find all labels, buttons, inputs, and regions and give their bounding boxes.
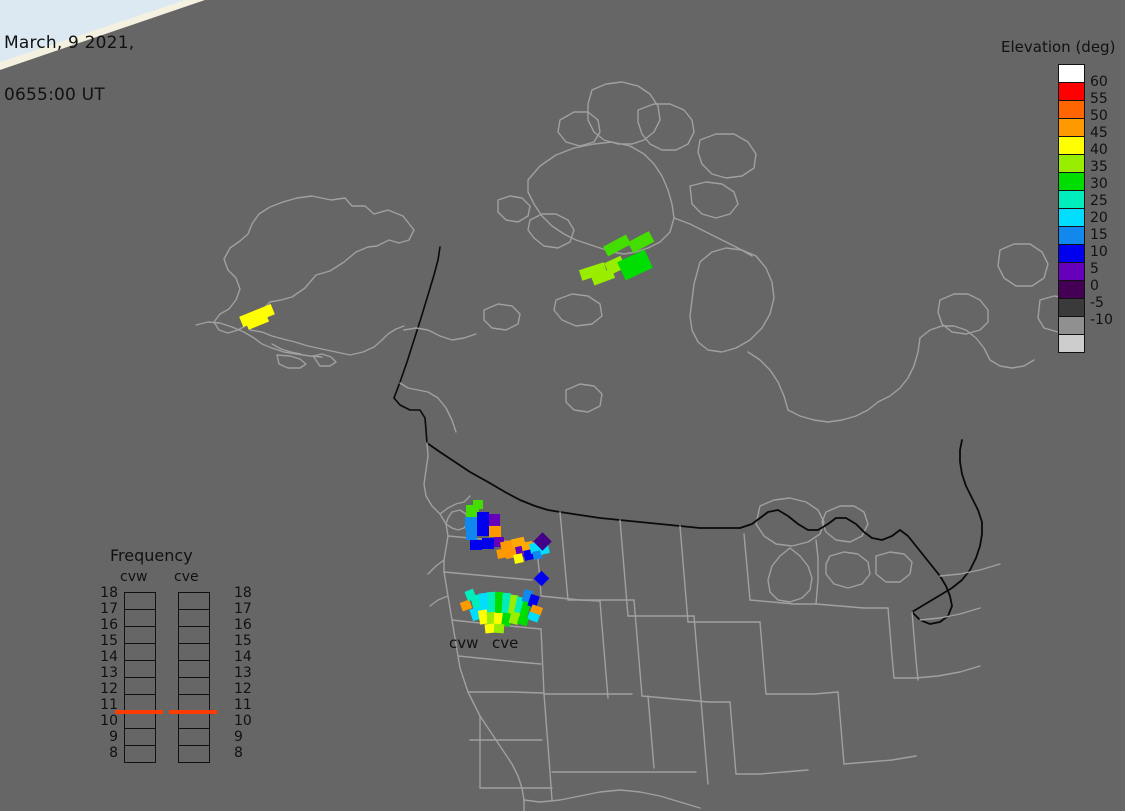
frequency-tick <box>179 644 209 661</box>
elevation-label: 45 <box>1090 126 1108 140</box>
elevation-label: 20 <box>1090 211 1108 225</box>
radar-cell <box>494 624 505 634</box>
radar-cell <box>489 526 501 537</box>
frequency-tick-label: 9 <box>234 730 254 744</box>
elevation-label: 60 <box>1090 75 1108 89</box>
frequency-tick <box>125 627 155 644</box>
frequency-tick <box>179 712 209 729</box>
frequency-tick <box>125 712 155 729</box>
elevation-swatch <box>1059 262 1084 280</box>
frequency-tick <box>179 627 209 644</box>
elevation-colorbar-wrap: 605550454035302520151050-5-10 <box>1058 64 1125 353</box>
radar-cell <box>465 517 477 529</box>
frequency-tick-label: 11 <box>98 698 118 712</box>
radar-cell <box>513 553 524 564</box>
frequency-tick <box>125 593 155 610</box>
frequency-tick-label: 12 <box>234 682 254 696</box>
frequency-tick <box>179 746 209 762</box>
elevation-label: 40 <box>1090 143 1108 157</box>
radar-cell <box>473 500 483 509</box>
frequency-column-title-cve: cve <box>174 570 199 584</box>
frequency-tick <box>179 593 209 610</box>
elevation-swatch <box>1059 172 1084 190</box>
frequency-tick-label: 17 <box>234 602 254 616</box>
radar-cell <box>477 512 489 525</box>
elevation-swatch <box>1059 136 1084 154</box>
radar-cell <box>628 231 655 253</box>
frequency-tick <box>179 678 209 695</box>
elevation-label: -10 <box>1090 313 1113 327</box>
radar-map-visualization: March, 9 2021, 0655:00 UT <box>0 0 1125 811</box>
frequency-tick-label: 14 <box>234 650 254 664</box>
elevation-swatch <box>1059 82 1084 100</box>
frequency-tick-label: 10 <box>234 714 254 728</box>
elevation-label: -5 <box>1090 296 1104 310</box>
frequency-tick <box>125 746 155 762</box>
frequency-tick <box>125 729 155 746</box>
elevation-swatch <box>1059 65 1084 82</box>
frequency-tick <box>179 610 209 627</box>
elevation-label: 15 <box>1090 228 1108 242</box>
elevation-swatch <box>1059 118 1084 136</box>
frequency-tick <box>125 678 155 695</box>
frequency-tick-label: 18 <box>98 586 118 600</box>
radar-data-cells <box>0 0 1125 811</box>
frequency-tick-label: 9 <box>98 730 118 744</box>
elevation-label: 0 <box>1090 279 1099 293</box>
elevation-swatch <box>1059 280 1084 298</box>
station-label-cvw: cvw <box>449 636 478 651</box>
frequency-tick-label: 16 <box>98 618 118 632</box>
elevation-legend-title: Elevation (deg) <box>1001 40 1125 55</box>
radar-cell <box>477 525 489 536</box>
frequency-tick-label: 13 <box>234 666 254 680</box>
station-label-cve: cve <box>492 636 518 651</box>
elevation-swatch <box>1059 154 1084 172</box>
radar-cell <box>603 235 631 257</box>
frequency-tick-label: 16 <box>234 618 254 632</box>
frequency-tick-label: 10 <box>98 714 118 728</box>
frequency-tick <box>179 729 209 746</box>
elevation-swatch <box>1059 244 1084 262</box>
elevation-colorbar <box>1058 64 1085 353</box>
frequency-tick-label: 15 <box>234 634 254 648</box>
elevation-label: 5 <box>1090 262 1099 276</box>
frequency-tick-label: 8 <box>98 746 118 760</box>
frequency-tick-label: 15 <box>98 634 118 648</box>
elevation-legend: Elevation (deg) 605550454035302520151050… <box>1001 40 1125 353</box>
elevation-swatch <box>1059 208 1084 226</box>
radar-cell <box>517 616 529 627</box>
radar-cell <box>466 529 477 540</box>
radar-cell <box>489 514 500 526</box>
frequency-tick-label: 18 <box>234 586 254 600</box>
frequency-tick-label: 17 <box>98 602 118 616</box>
elevation-label: 55 <box>1090 92 1108 106</box>
radar-cell <box>470 540 482 550</box>
radar-cell <box>534 571 550 587</box>
frequency-column-title-cvw: cvw <box>120 570 147 584</box>
frequency-tick-label: 13 <box>98 666 118 680</box>
frequency-tick-label: 8 <box>234 746 254 760</box>
elevation-swatch <box>1059 334 1084 352</box>
elevation-label: 35 <box>1090 160 1108 174</box>
frequency-marker-cve <box>169 710 217 714</box>
elevation-swatch <box>1059 298 1084 316</box>
frequency-tick-label: 14 <box>98 650 118 664</box>
elevation-label: 30 <box>1090 177 1108 191</box>
frequency-tick <box>125 610 155 627</box>
frequency-tick-label: 11 <box>234 698 254 712</box>
frequency-legend-title: Frequency <box>110 548 193 564</box>
frequency-tick-label: 12 <box>98 682 118 696</box>
elevation-swatch <box>1059 316 1084 334</box>
radar-cell <box>482 538 494 549</box>
radar-cell <box>617 250 653 281</box>
elevation-label: 10 <box>1090 245 1108 259</box>
elevation-swatch <box>1059 226 1084 244</box>
elevation-swatch <box>1059 190 1084 208</box>
elevation-label: 50 <box>1090 109 1108 123</box>
frequency-tick <box>125 661 155 678</box>
frequency-scale-cvw <box>124 592 156 763</box>
frequency-tick <box>179 661 209 678</box>
frequency-marker-cvw <box>115 710 163 714</box>
frequency-tick <box>125 644 155 661</box>
elevation-swatch <box>1059 100 1084 118</box>
frequency-scale-cve <box>178 592 210 763</box>
elevation-label: 25 <box>1090 194 1108 208</box>
